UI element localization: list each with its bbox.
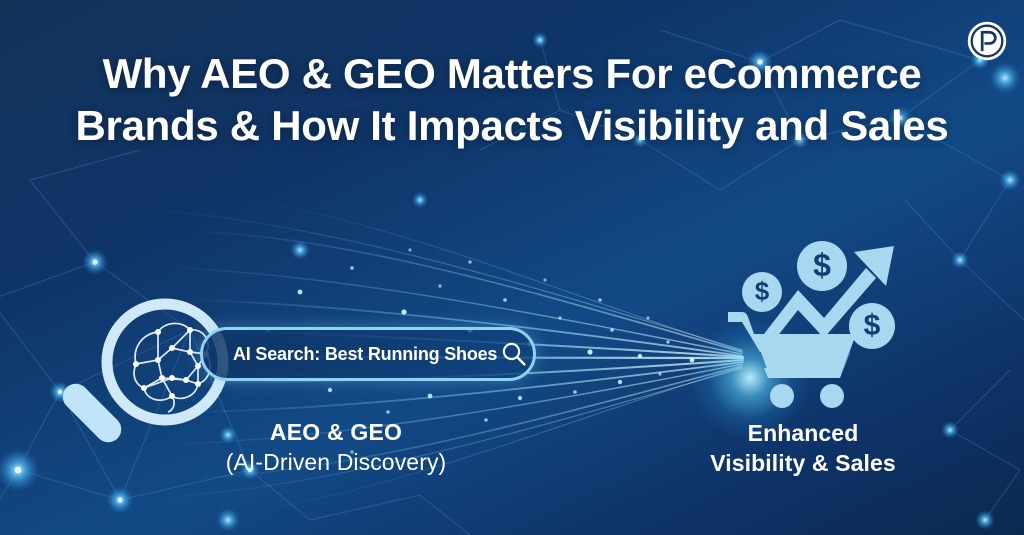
right-caption-line-1: Enhanced bbox=[672, 418, 934, 448]
svg-text:$: $ bbox=[864, 309, 881, 342]
headline-line-2: Brands & How It Impacts Visibility and S… bbox=[26, 100, 998, 152]
search-icon[interactable] bbox=[501, 341, 527, 367]
search-query-text: AI Search: Best Running Shoes bbox=[233, 344, 497, 365]
promo-banner: Why AEO & GEO Matters For eCommerce Bran… bbox=[0, 0, 1024, 535]
svg-text:$: $ bbox=[755, 276, 770, 306]
left-caption-title: AEO & GEO bbox=[176, 418, 496, 447]
right-caption: Enhanced Visibility & Sales bbox=[672, 418, 934, 478]
page-title: Why AEO & GEO Matters For eCommerce Bran… bbox=[0, 48, 1024, 152]
svg-text:$: $ bbox=[813, 247, 831, 283]
left-caption: AEO & GEO (AI-Driven Discovery) bbox=[176, 418, 496, 478]
headline-line-1: Why AEO & GEO Matters For eCommerce bbox=[103, 50, 922, 97]
brand-logo-p-icon[interactable] bbox=[966, 20, 1008, 62]
search-input[interactable]: AI Search: Best Running Shoes bbox=[200, 327, 536, 381]
right-caption-line-2: Visibility & Sales bbox=[672, 448, 934, 478]
left-caption-subtitle: (AI-Driven Discovery) bbox=[176, 447, 496, 478]
shopping-cart-growth-icon: $ $ $ bbox=[726, 238, 912, 414]
